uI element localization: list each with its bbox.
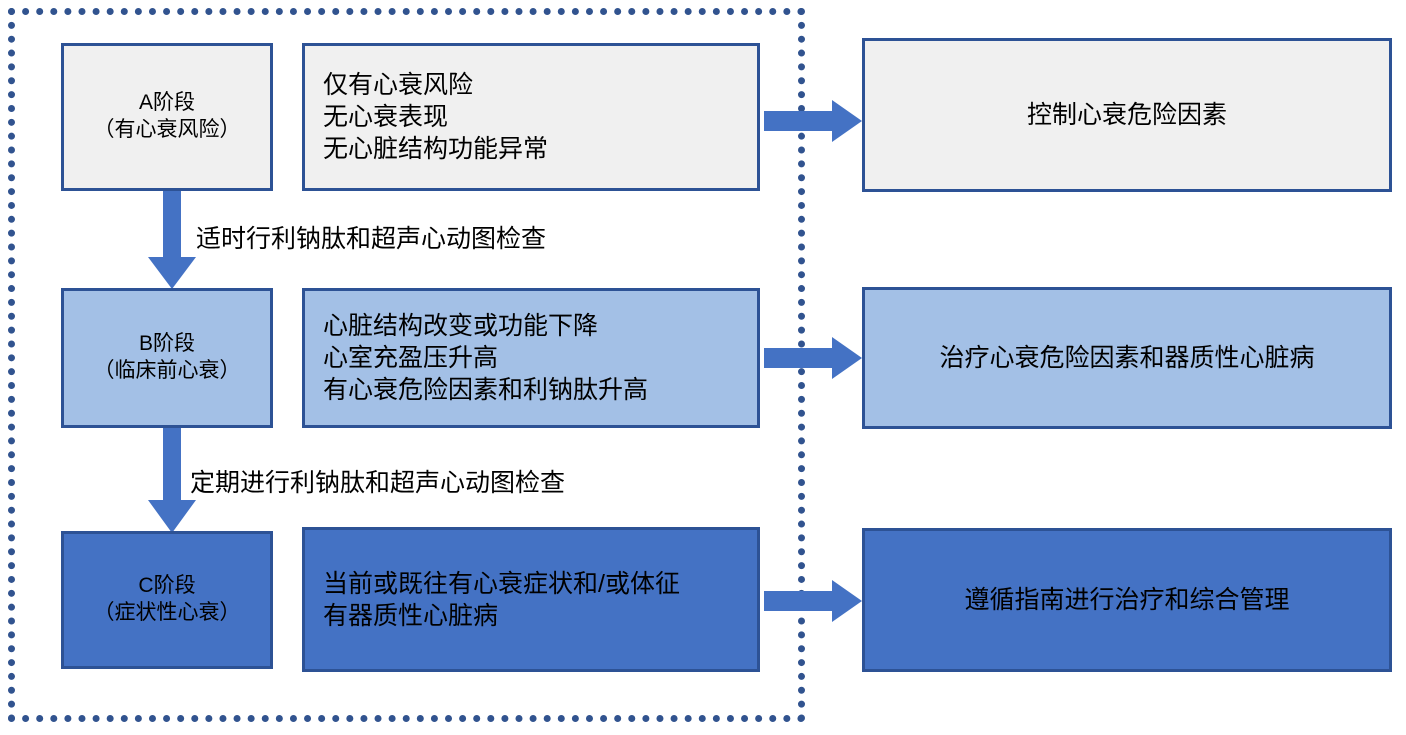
stage-a-detail-text: 仅有心衰风险 无心衰表现 无心脏结构功能异常 xyxy=(323,69,548,165)
stage-c-label-text: C阶段 （症状性心衰） xyxy=(94,573,241,627)
stage-c-action-text: 遵循指南进行治疗和综合管理 xyxy=(964,584,1289,616)
stage-c-right-arrow xyxy=(764,580,862,622)
stage-a-right-arrow xyxy=(764,100,862,142)
stage-b-to-c-label: 定期进行利钠肽和超声心动图检查 xyxy=(190,463,565,499)
stage-b-right-arrow xyxy=(764,337,862,379)
stage-c-action-box[interactable]: 遵循指南进行治疗和综合管理 xyxy=(862,528,1392,672)
stage-a-action-text: 控制心衰危险因素 xyxy=(1027,99,1227,131)
diagram-canvas: A阶段 （有心衰风险） 仅有心衰风险 无心衰表现 无心脏结构功能异常 控制心衰危… xyxy=(0,0,1406,735)
stage-c-label-box[interactable]: C阶段 （症状性心衰） xyxy=(61,531,273,669)
stage-b-detail-text: 心脏结构改变或功能下降 心室充盈压升高 有心衰危险因素和利钠肽升高 xyxy=(323,310,648,406)
stage-b-to-c-down-arrow xyxy=(148,428,196,533)
stage-c-detail-text: 当前或既往有心衰症状和/或体征 有器质性心脏病 xyxy=(323,568,680,632)
stage-b-detail-box[interactable]: 心脏结构改变或功能下降 心室充盈压升高 有心衰危险因素和利钠肽升高 xyxy=(302,288,760,428)
stage-a-action-box[interactable]: 控制心衰危险因素 xyxy=(862,38,1392,192)
stage-a-label-text: A阶段 （有心衰风险） xyxy=(94,90,241,144)
stage-a-to-b-label: 适时行利钠肽和超声心动图检查 xyxy=(196,219,546,255)
stage-a-label-box[interactable]: A阶段 （有心衰风险） xyxy=(61,43,273,191)
stage-a-detail-box[interactable]: 仅有心衰风险 无心衰表现 无心脏结构功能异常 xyxy=(302,43,760,191)
stage-c-detail-box[interactable]: 当前或既往有心衰症状和/或体征 有器质性心脏病 xyxy=(302,527,760,672)
stage-b-action-text: 治疗心衰危险因素和器质性心脏病 xyxy=(939,342,1314,374)
stage-b-action-box[interactable]: 治疗心衰危险因素和器质性心脏病 xyxy=(862,287,1392,429)
stage-a-to-b-down-arrow xyxy=(148,191,196,289)
stage-b-label-box[interactable]: B阶段 （临床前心衰） xyxy=(61,288,273,428)
stage-b-label-text: B阶段 （临床前心衰） xyxy=(94,331,241,385)
